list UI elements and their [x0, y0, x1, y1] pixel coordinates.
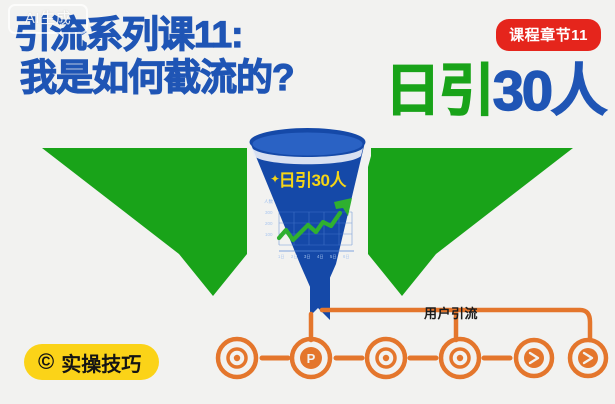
- poster-canvas: AI生成 引流系列课11: 我是如何截流的? 日引30人 课程章节11: [0, 0, 615, 404]
- funnel-label-text: 日引30人: [279, 171, 346, 190]
- big-stat-blue-part: 30人: [493, 59, 605, 122]
- chapter-badge: 课程章节11: [496, 19, 601, 51]
- copyright-icon: ©: [38, 351, 54, 373]
- headline-block: 引流系列课11: 我是如何截流的?: [14, 14, 294, 100]
- flow-node-2-glyph: P: [307, 351, 316, 366]
- big-stat-green-part: 日引: [385, 59, 493, 122]
- flow-label: 用户引流: [424, 303, 478, 322]
- flow-node-4[interactable]: [441, 339, 479, 377]
- flow-node-3[interactable]: [367, 339, 405, 377]
- green-wing-right: [368, 148, 573, 296]
- flow-node-1[interactable]: [218, 339, 256, 377]
- headline-line-2: 我是如何截流的?: [14, 56, 294, 100]
- skill-badge: © 实操技巧: [24, 344, 159, 380]
- funnel-label: ✦日引30人: [258, 166, 358, 191]
- green-wing-left: [42, 148, 247, 296]
- flow-node-6[interactable]: [570, 340, 606, 376]
- skill-badge-label: 实操技巧: [61, 348, 141, 377]
- flow-node-5[interactable]: [516, 340, 552, 376]
- funnel-rim-inner: [253, 133, 363, 156]
- headline-line-1: 引流系列课11:: [14, 14, 294, 56]
- flow-node-2[interactable]: P: [292, 339, 330, 377]
- big-stat-text: 日引30人: [385, 60, 605, 122]
